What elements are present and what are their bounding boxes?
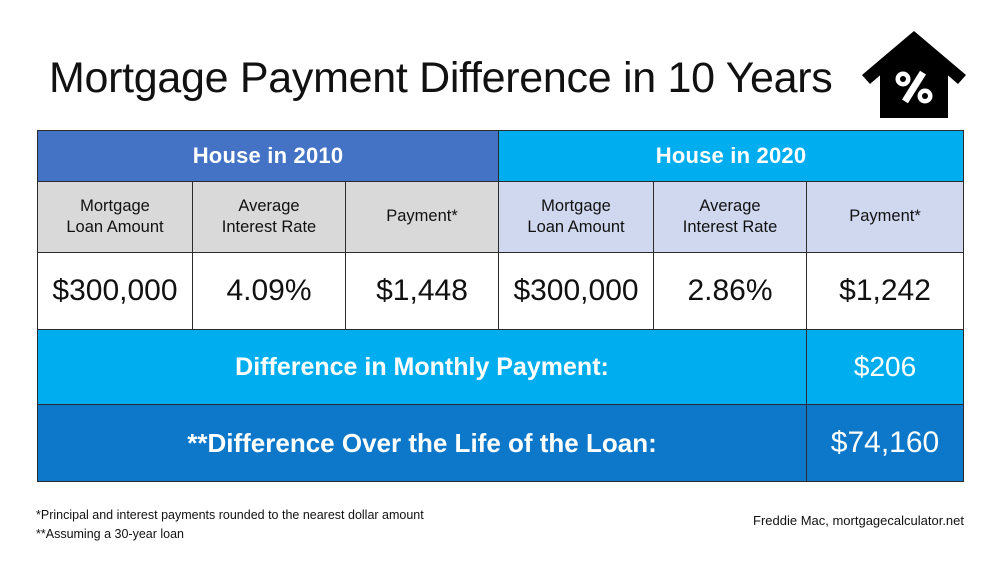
difference-monthly-label: Difference in Monthly Payment:	[38, 330, 807, 405]
page-title: Mortgage Payment Difference in 10 Years	[49, 57, 833, 100]
column-header-row: Mortgage Loan Amount Average Interest Ra…	[38, 182, 964, 253]
difference-life-label: **Difference Over the Life of the Loan:	[38, 405, 807, 482]
column-header-line1: Payment*	[807, 206, 963, 227]
house-percent-icon	[858, 27, 970, 125]
difference-life-row: **Difference Over the Life of the Loan: …	[38, 405, 964, 482]
column-header-line2: Loan Amount	[499, 217, 653, 238]
value-row: $300,000 4.09% $1,448 $300,000 2.86% $1,…	[38, 253, 964, 330]
value-mortgage-loan-amount-2020: $300,000	[499, 253, 654, 330]
column-header-line1: Payment*	[346, 206, 498, 227]
footnote-principal-interest: *Principal and interest payments rounded…	[36, 506, 424, 525]
value-payment-2020: $1,242	[807, 253, 964, 330]
column-header-payment-2010: Payment*	[346, 182, 499, 253]
column-header-line1: Average	[654, 196, 806, 217]
difference-life-value: $74,160	[807, 405, 964, 482]
column-header-average-interest-rate-2010: Average Interest Rate	[193, 182, 346, 253]
footnotes: *Principal and interest payments rounded…	[36, 506, 424, 543]
value-average-interest-rate-2010: 4.09%	[193, 253, 346, 330]
difference-monthly-value: $206	[807, 330, 964, 405]
footnote-loan-term: **Assuming a 30-year loan	[36, 525, 424, 544]
column-header-line2: Loan Amount	[38, 217, 192, 238]
value-mortgage-loan-amount-2010: $300,000	[38, 253, 193, 330]
group-header-2010: House in 2010	[38, 131, 499, 182]
group-header-2020: House in 2020	[499, 131, 964, 182]
column-header-line1: Average	[193, 196, 345, 217]
title-row: Mortgage Payment Difference in 10 Years	[0, 0, 1000, 128]
column-header-average-interest-rate-2020: Average Interest Rate	[654, 182, 807, 253]
value-average-interest-rate-2020: 2.86%	[654, 253, 807, 330]
column-header-mortgage-loan-amount-2010: Mortgage Loan Amount	[38, 182, 193, 253]
column-header-line1: Mortgage	[38, 196, 192, 217]
difference-monthly-row: Difference in Monthly Payment: $206	[38, 330, 964, 405]
column-header-payment-2020: Payment*	[807, 182, 964, 253]
source-attribution: Freddie Mac, mortgagecalculator.net	[753, 513, 964, 528]
column-header-line2: Interest Rate	[654, 217, 806, 238]
column-header-line1: Mortgage	[499, 196, 653, 217]
column-header-mortgage-loan-amount-2020: Mortgage Loan Amount	[499, 182, 654, 253]
column-header-line2: Interest Rate	[193, 217, 345, 238]
value-payment-2010: $1,448	[346, 253, 499, 330]
group-header-row: House in 2010 House in 2020	[38, 131, 964, 182]
mortgage-comparison-table: House in 2010 House in 2020 Mortgage Loa…	[37, 130, 964, 482]
